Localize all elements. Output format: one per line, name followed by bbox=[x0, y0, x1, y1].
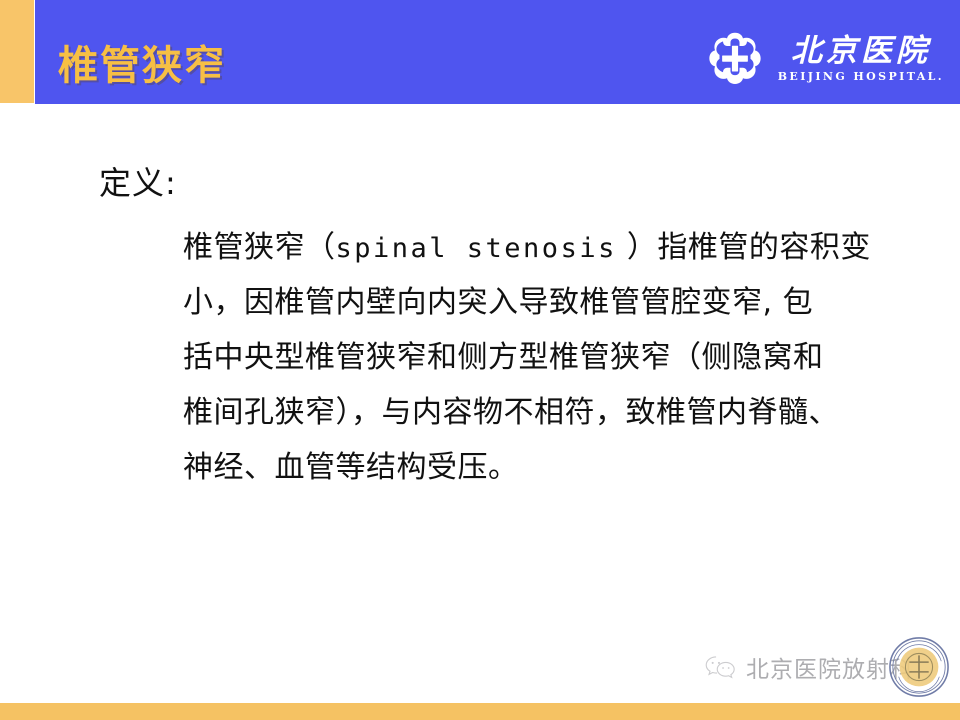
department-seal-icon bbox=[888, 636, 950, 698]
slide-title-bar: 椎管狭窄 北京医院 BEIJING HOS bbox=[0, 0, 960, 104]
paragraph-line: 小，因椎管内壁向内突入导致椎管管腔变窄, 包 bbox=[183, 275, 903, 330]
hospital-knot-cross-emblem-icon bbox=[706, 30, 764, 88]
line-text-pre: 括中央型椎管狭窄和侧方型椎管狭窄（侧隐窝和 bbox=[183, 340, 824, 375]
paragraph-line: 括中央型椎管狭窄和侧方型椎管狭窄（侧隐窝和 bbox=[183, 330, 903, 385]
bottom-accent-band bbox=[0, 703, 960, 720]
definition-heading: 定义: bbox=[99, 158, 177, 204]
definition-paragraph: 椎管狭窄（spinal stenosis ）指椎管的容积变 小，因椎管内壁向内突… bbox=[183, 220, 903, 495]
department-watermark: 北京医院放射科 bbox=[704, 636, 950, 698]
english-term: spinal stenosis bbox=[336, 233, 617, 264]
line-text-pre: 神经、血管等结构受压。 bbox=[183, 450, 519, 485]
hospital-wordmark: 北京医院 BEIJING HOSPITAL. bbox=[778, 35, 944, 83]
slide-title: 椎管狭窄 bbox=[58, 33, 226, 91]
wechat-bubble-icon bbox=[704, 654, 738, 680]
hospital-name-en: BEIJING HOSPITAL. bbox=[778, 70, 944, 83]
hospital-logo: 北京医院 BEIJING HOSPITAL. bbox=[706, 28, 944, 90]
title-accent-stripe bbox=[0, 0, 34, 103]
presentation-slide: 椎管狭窄 北京医院 BEIJING HOS bbox=[0, 0, 960, 720]
paragraph-line: 椎管狭窄（spinal stenosis ）指椎管的容积变 bbox=[183, 220, 903, 275]
line-text-post: ）指椎管的容积变 bbox=[617, 230, 871, 265]
paragraph-line: 神经、血管等结构受压。 bbox=[183, 440, 903, 495]
paragraph-line: 椎间孔狭窄），与内容物不相符，致椎管内脊髓、 bbox=[183, 385, 903, 440]
slide-content: 定义: 椎管狭窄（spinal stenosis ）指椎管的容积变 小，因椎管内… bbox=[0, 104, 960, 703]
hospital-name-cn: 北京医院 bbox=[791, 35, 931, 68]
line-text-pre: 椎管狭窄（ bbox=[183, 230, 336, 265]
line-text-pre: 小，因椎管内壁向内突入导致椎管管腔变窄, 包 bbox=[183, 285, 813, 320]
line-text-pre: 椎间孔狭窄），与内容物不相符，致椎管内脊髓、 bbox=[183, 395, 839, 430]
